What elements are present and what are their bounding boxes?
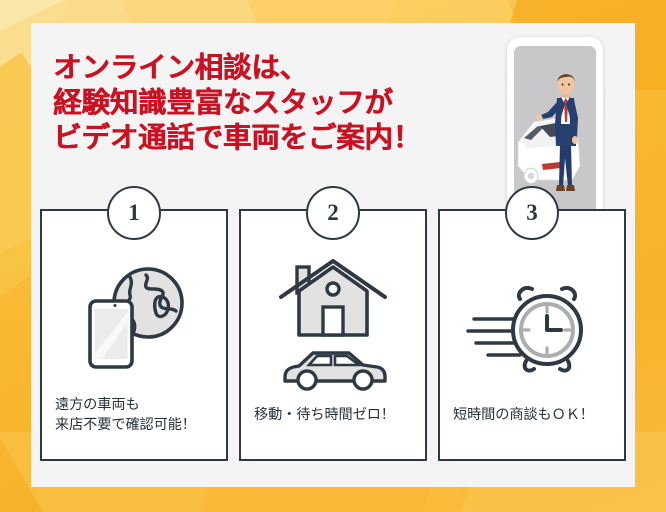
- feature-card-3-label: 短時間の商談もＯＫ！: [453, 406, 616, 426]
- step-badge-3: 3: [505, 186, 559, 240]
- alarm-clock-speed-icon: [440, 283, 624, 379]
- headline-line-1: オンライン相談は、: [53, 51, 421, 86]
- step-badge-2: 2: [306, 186, 360, 240]
- house-car-icon: [241, 253, 425, 393]
- feature-card-2-label-line-1: 移動・待ち時間ゼロ！: [254, 406, 417, 426]
- headline-line-2: 経験知識豊富なスタッフが: [53, 86, 421, 121]
- car-shape: [285, 353, 385, 389]
- page-title: オンライン相談は、 経験知識豊富なスタッフが ビデオ通話で車両をご案内！: [53, 51, 421, 156]
- feature-card-2-label: 移動・待ち時間ゼロ！: [254, 406, 417, 426]
- smartphone-globe-icon: [42, 259, 226, 371]
- feature-card-3-label-line-1: 短時間の商談もＯＫ！: [453, 406, 616, 426]
- feature-card-1-label-line-2: 来店不要で確認可能！: [55, 416, 218, 436]
- feature-card-1[interactable]: 1 遠方の車両も: [40, 209, 228, 461]
- phone-button-mute: [505, 75, 507, 87]
- phone-button-volume-down: [505, 119, 507, 139]
- feature-card-1-label-line-1: 遠方の車両も: [55, 396, 218, 416]
- phone-button-power: [603, 89, 605, 117]
- feature-card-3[interactable]: 3: [438, 209, 626, 461]
- step-badge-1: 1: [107, 186, 161, 240]
- headline-line-3: ビデオ通話で車両をご案内！: [53, 121, 421, 156]
- house-shape: [281, 261, 385, 335]
- feature-card-list: 1 遠方の車両も: [40, 209, 626, 471]
- promo-poster: オンライン相談は、 経験知識豊富なスタッフが ビデオ通話で車両をご案内！: [0, 0, 666, 512]
- phone-button-volume-up: [505, 93, 507, 113]
- content-panel: オンライン相談は、 経験知識豊富なスタッフが ビデオ通話で車両をご案内！: [31, 23, 635, 487]
- feature-card-1-label: 遠方の車両も 来店不要で確認可能！: [55, 396, 218, 435]
- feature-card-2[interactable]: 2: [239, 209, 427, 461]
